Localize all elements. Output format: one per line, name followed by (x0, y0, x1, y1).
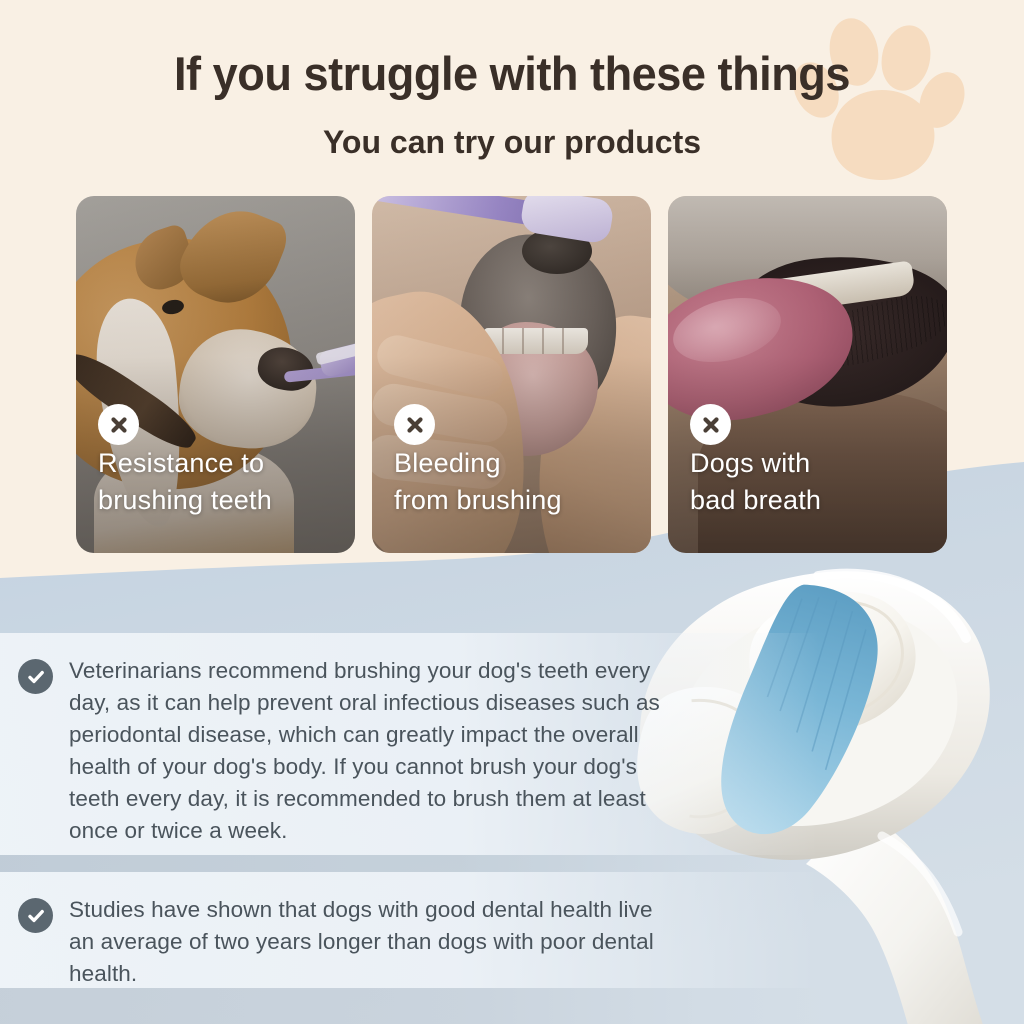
card-caption-bad-breath: Dogs with bad breath (690, 445, 933, 520)
x-mark-icon (394, 404, 435, 445)
card-caption-bleeding: Bleeding from brushing (394, 445, 637, 520)
fact-text-vet-recommendation: Veterinarians recommend brushing your do… (69, 655, 669, 833)
x-mark-icon (98, 404, 139, 445)
card-caption-resistance: Resistance to brushing teeth (98, 445, 341, 520)
check-circle-icon (18, 659, 53, 694)
page-subtitle: You can try our products (0, 124, 1024, 161)
problem-card-resistance[interactable]: Resistance to brushing teeth (76, 196, 355, 553)
x-mark-icon (690, 404, 731, 445)
fact-panel-vet-recommendation: Veterinarians recommend brushing your do… (0, 633, 693, 855)
fact-text-lifespan-study: Studies have shown that dogs with good d… (69, 894, 669, 966)
problem-card-bleeding[interactable]: Bleeding from brushing (372, 196, 651, 553)
card-caption-line: Resistance to (98, 445, 341, 482)
problem-card-list: Resistance to brushing teeth (76, 196, 948, 553)
header-block: If you struggle with these things You ca… (0, 48, 1024, 161)
card-caption-line: bad breath (690, 482, 933, 519)
problem-card-bad-breath[interactable]: Dogs with bad breath (668, 196, 947, 553)
card-caption-line: Dogs with (690, 445, 933, 482)
infographic-root: If you struggle with these things You ca… (0, 0, 1024, 1024)
panel-divider-band (0, 855, 1024, 872)
card-caption-line: brushing teeth (98, 482, 341, 519)
fact-panel-lifespan-study: Studies have shown that dogs with good d… (0, 872, 693, 988)
check-circle-icon (18, 898, 53, 933)
page-title: If you struggle with these things (20, 48, 1003, 100)
card-caption-line: Bleeding (394, 445, 637, 482)
bottom-band (0, 988, 1024, 1024)
card-caption-line: from brushing (394, 482, 637, 519)
